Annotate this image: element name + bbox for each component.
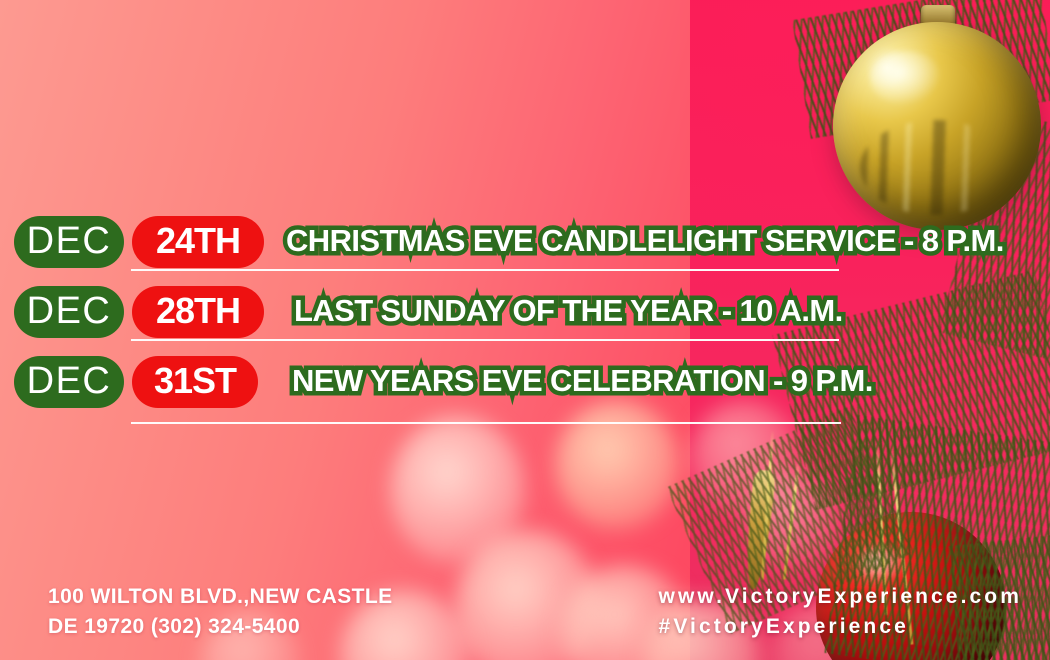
holiday-schedule-flyer: DEC 24TH CHRISTMAS EVE CANDLELIGHT SERVI… xyxy=(0,0,1050,660)
website-url[interactable]: www.VictoryExperience.com xyxy=(659,582,1022,612)
event-title: NEW YEARS EVE CELEBRATION - 9 P.M. xyxy=(292,365,873,399)
address-block: 100 WILTON BLVD.,NEW CASTLE DE 19720 (30… xyxy=(48,582,392,642)
day-badge: 31ST xyxy=(132,356,258,408)
row-divider xyxy=(131,422,841,424)
row-divider xyxy=(131,339,839,341)
address-line-1: 100 WILTON BLVD.,NEW CASTLE xyxy=(48,582,392,612)
row-divider xyxy=(131,269,839,271)
address-line-2: DE 19720 (302) 324-5400 xyxy=(48,612,392,642)
schedule-list: DEC 24TH CHRISTMAS EVE CANDLELIGHT SERVI… xyxy=(0,0,1050,660)
event-title: CHRISTMAS EVE CANDLELIGHT SERVICE - 8 P.… xyxy=(286,225,1004,259)
month-badge: DEC xyxy=(14,286,124,338)
event-title: LAST SUNDAY OF THE YEAR - 10 A.M. xyxy=(294,295,843,329)
day-badge: 28TH xyxy=(132,286,264,338)
day-badge: 24TH xyxy=(132,216,264,268)
schedule-row: DEC 31ST NEW YEARS EVE CELEBRATION - 9 P… xyxy=(14,356,873,408)
schedule-row: DEC 24TH CHRISTMAS EVE CANDLELIGHT SERVI… xyxy=(14,216,1004,268)
web-block: www.VictoryExperience.com #VictoryExperi… xyxy=(659,582,1022,642)
schedule-row: DEC 28TH LAST SUNDAY OF THE YEAR - 10 A.… xyxy=(14,286,843,338)
month-badge: DEC xyxy=(14,356,124,408)
month-badge: DEC xyxy=(14,216,124,268)
hashtag[interactable]: #VictoryExperience xyxy=(659,612,1022,642)
